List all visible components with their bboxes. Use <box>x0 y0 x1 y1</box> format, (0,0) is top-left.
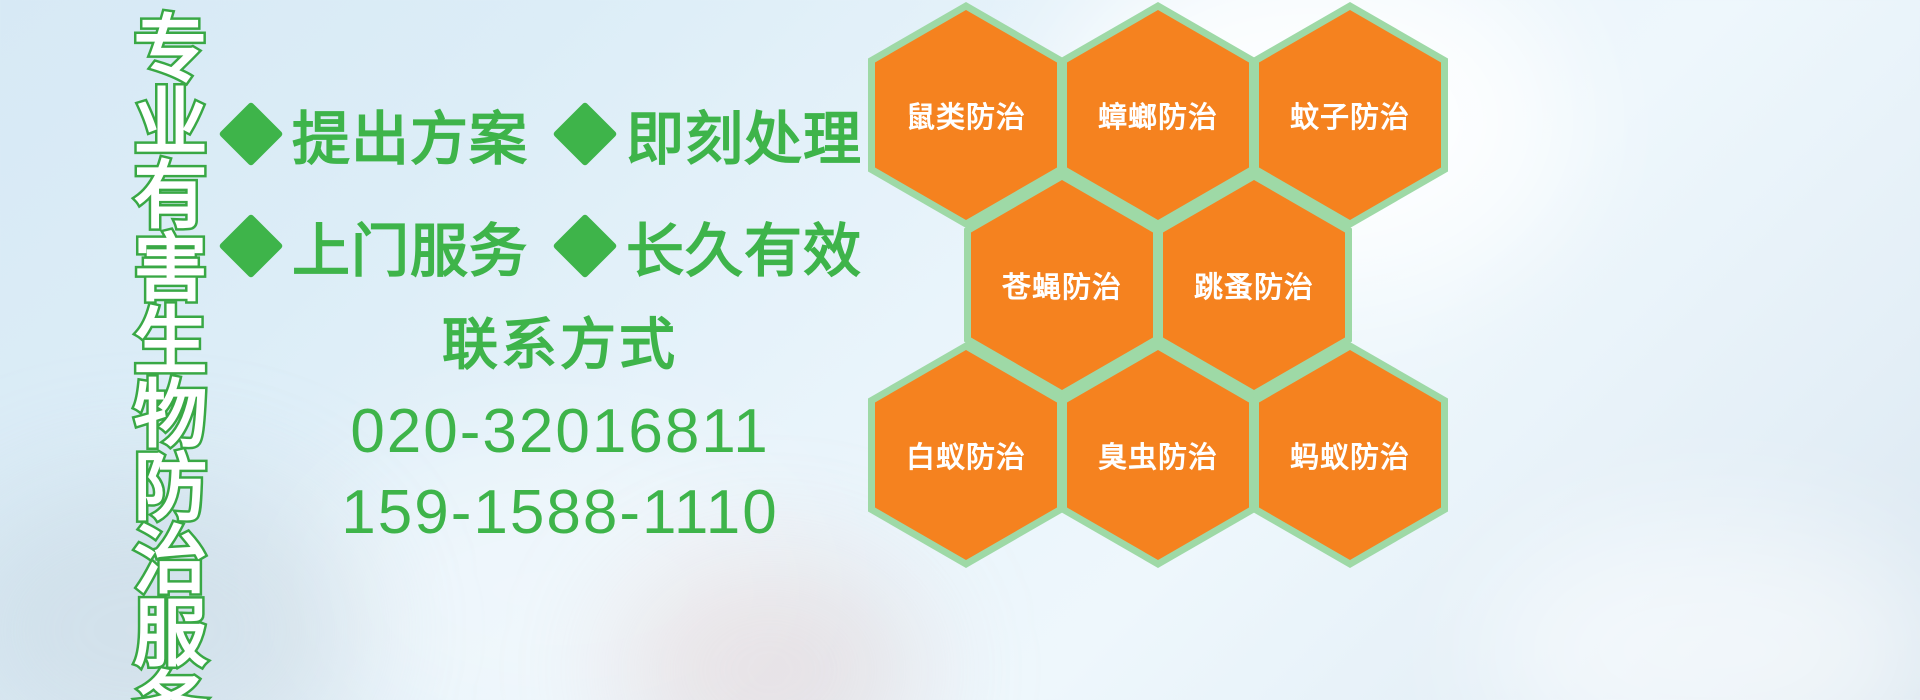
hex-inner: 白蚁防治 <box>875 350 1057 560</box>
feature-item: 即刻处理 <box>562 92 862 176</box>
contact-phone-mobile[interactable]: 159-1588-1110 <box>250 473 870 554</box>
hex-label: 蟑螂防治 <box>1098 94 1218 136</box>
feature-list: 提出方案 即刻处理 上门服务 长久有效 <box>228 78 868 302</box>
contact-phone-landline[interactable]: 020-32016811 <box>250 392 870 473</box>
hex-label: 蚂蚁防治 <box>1290 434 1410 476</box>
contact-block: 联系方式 020-32016811 159-1588-1110 <box>250 310 870 553</box>
feature-label: 上门服务 <box>292 204 528 288</box>
hex-label: 臭虫防治 <box>1098 434 1218 476</box>
hex-inner: 跳蚤防治 <box>1163 180 1345 390</box>
hex-inner: 苍蝇防治 <box>971 180 1153 390</box>
hex-inner: 蚂蚁防治 <box>1259 350 1441 560</box>
hex-inner: 臭虫防治 <box>1067 350 1249 560</box>
service-honeycomb: 鼠类防治 蟑螂防治 蚊子防治 苍蝇防治 跳蚤防治 白蚁防治 <box>862 0 1462 700</box>
feature-label: 提出方案 <box>292 92 528 176</box>
hex-label: 苍蝇防治 <box>1002 264 1122 306</box>
feature-row: 提出方案 即刻处理 <box>228 78 868 190</box>
contact-heading: 联系方式 <box>250 310 870 380</box>
hex-label: 蚊子防治 <box>1290 94 1410 136</box>
hex-label: 跳蚤防治 <box>1194 264 1314 306</box>
hex-inner: 蚊子防治 <box>1259 10 1441 220</box>
vertical-headline: 专业有害生物防治服务 <box>106 10 202 580</box>
feature-item: 上门服务 <box>228 204 528 288</box>
diamond-icon <box>218 213 283 278</box>
diamond-icon <box>218 101 283 166</box>
feature-item: 提出方案 <box>228 92 528 176</box>
feature-label: 长久有效 <box>626 204 862 288</box>
feature-item: 长久有效 <box>562 204 862 288</box>
hex-inner: 鼠类防治 <box>875 10 1057 220</box>
hex-label: 鼠类防治 <box>906 94 1026 136</box>
diamond-icon <box>552 101 617 166</box>
feature-row: 上门服务 长久有效 <box>228 190 868 302</box>
feature-label: 即刻处理 <box>626 92 862 176</box>
banner-stage: 专业有害生物防治服务 提出方案 即刻处理 上门服务 长久有效 联系方式 <box>0 0 1920 700</box>
hex-inner: 蟑螂防治 <box>1067 10 1249 220</box>
hex-label: 白蚁防治 <box>906 434 1026 476</box>
diamond-icon <box>552 213 617 278</box>
